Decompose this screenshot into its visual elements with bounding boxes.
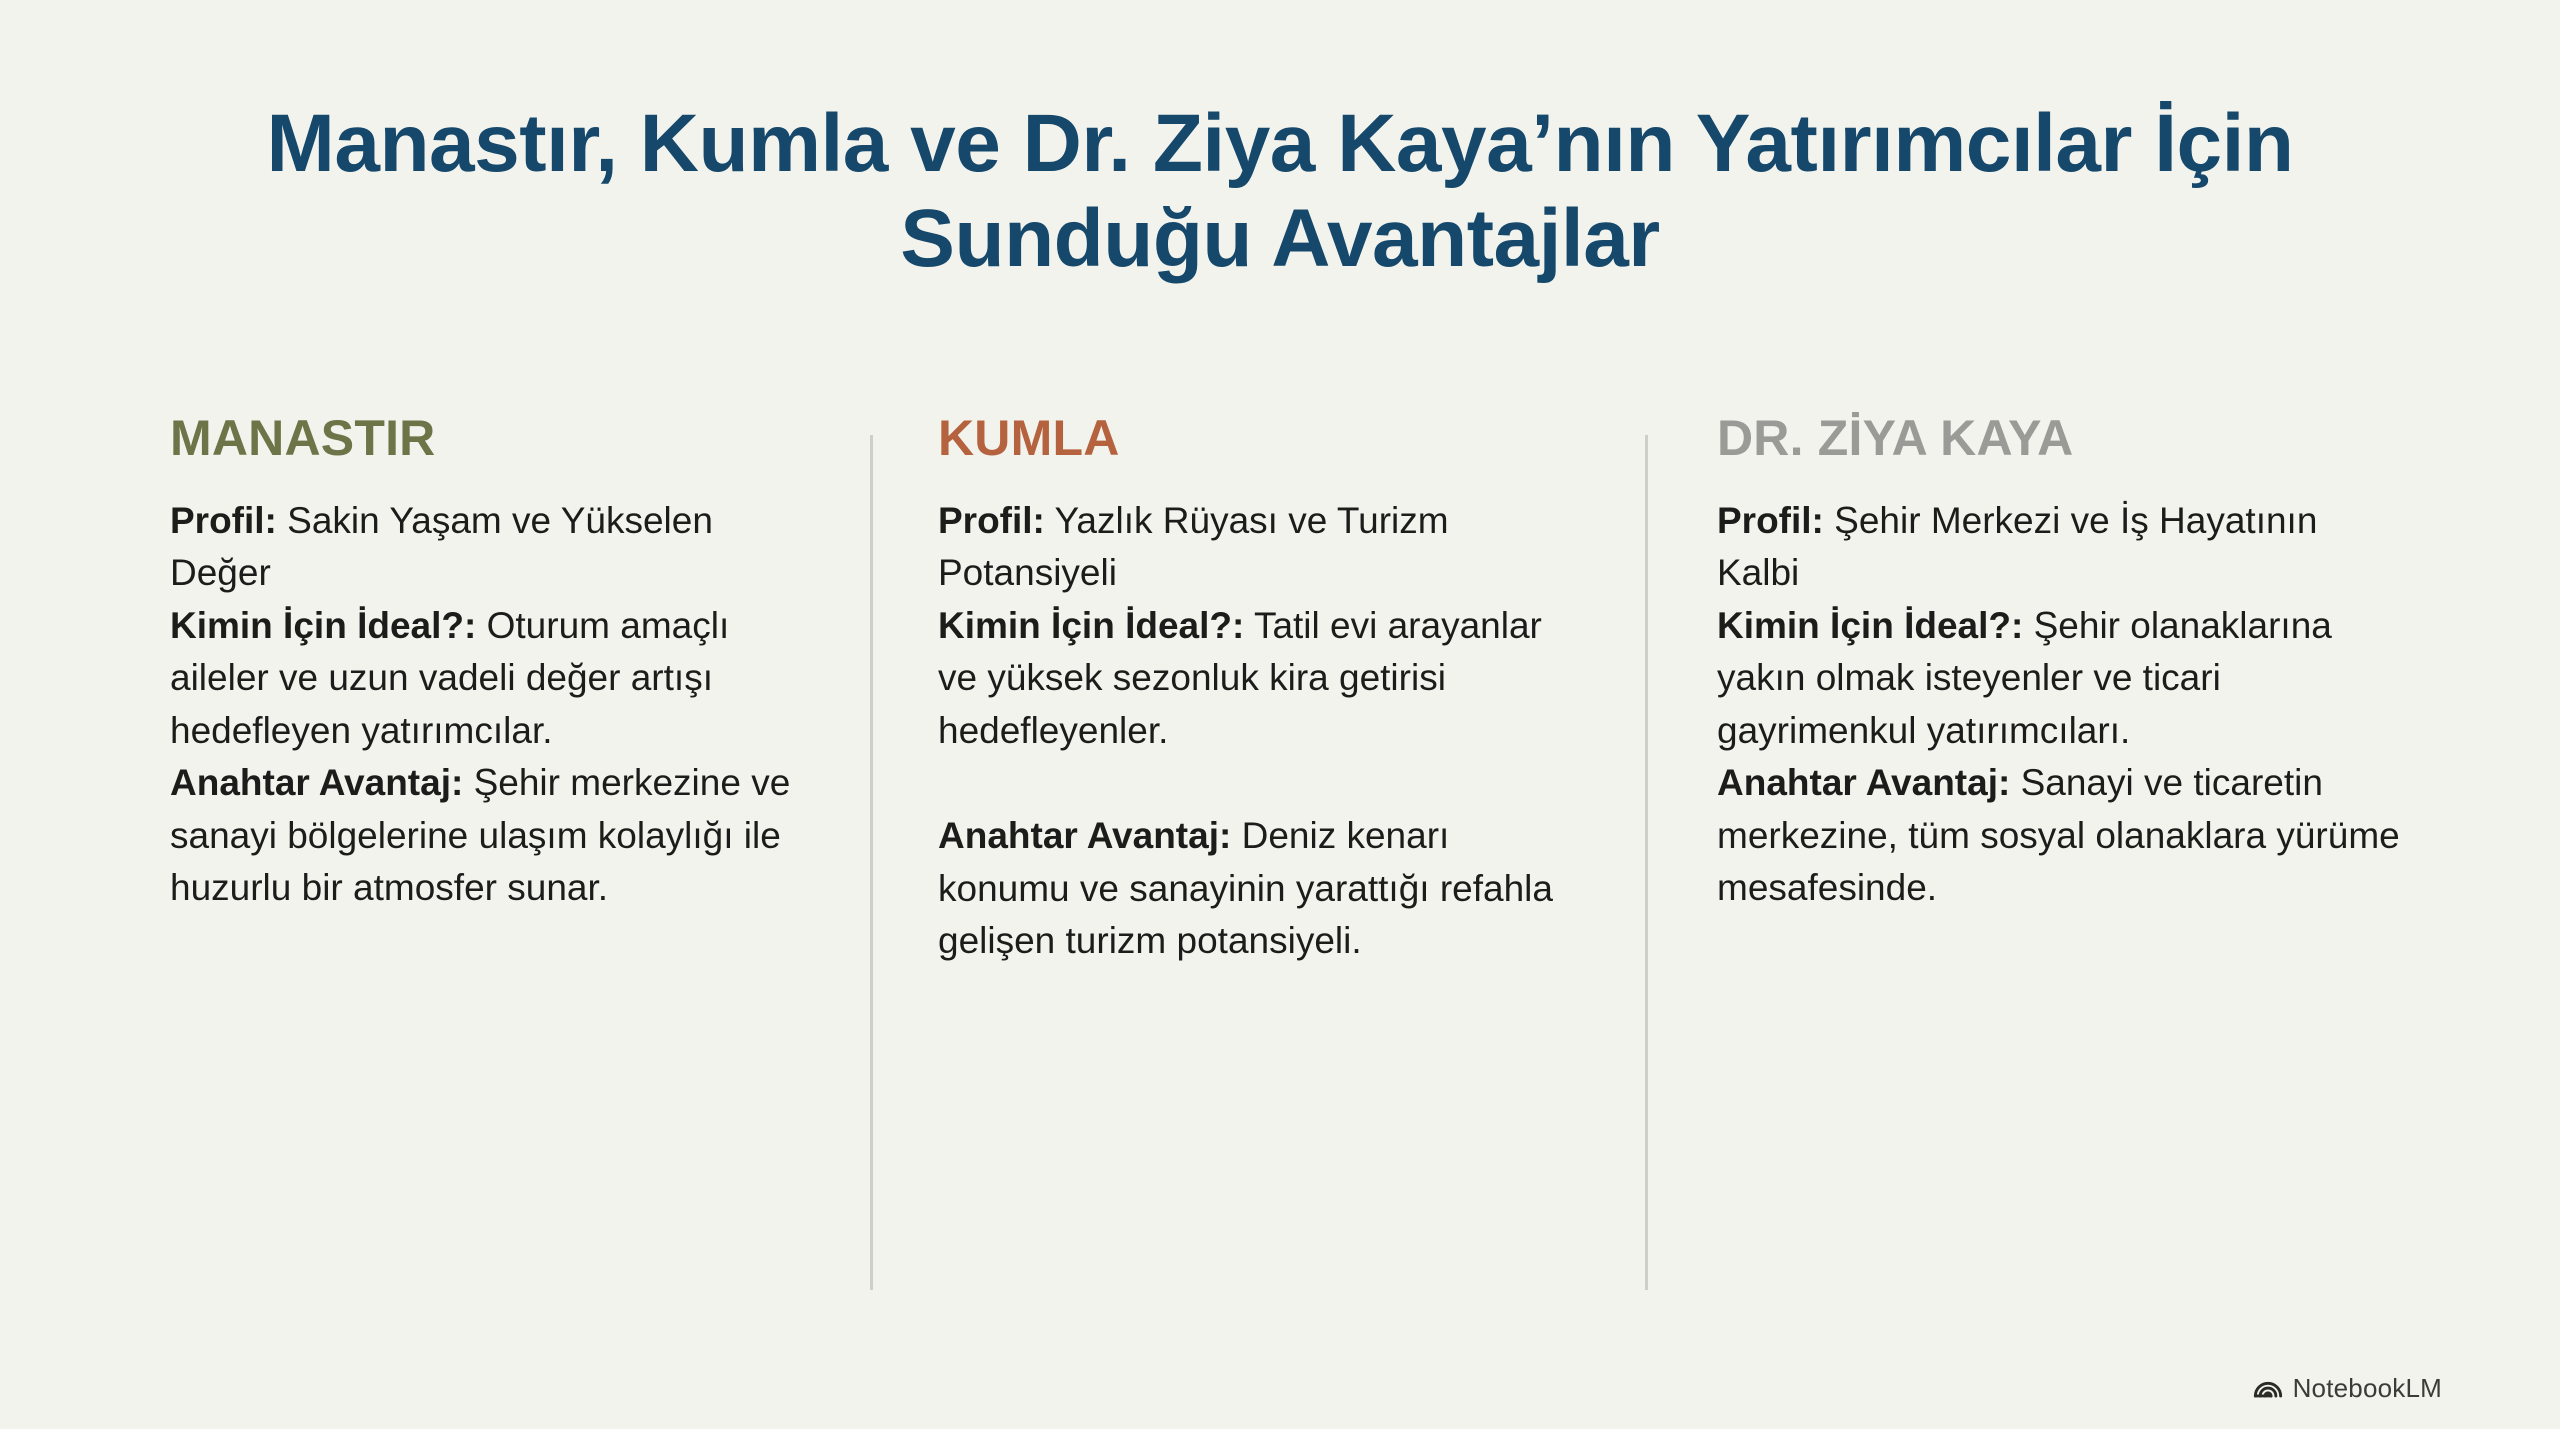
entry-label: Kimin İçin İdeal?: bbox=[170, 605, 476, 646]
column-heading-kumla: KUMLA bbox=[938, 412, 1585, 465]
entry-kimin-icin-ideal: Kimin İçin İdeal?: Tatil evi arayanlar v… bbox=[938, 600, 1585, 758]
entry-anahtar-avantaj: Anahtar Avantaj: Deniz kenarı konumu ve … bbox=[938, 810, 1585, 968]
column-divider-1 bbox=[870, 435, 873, 1290]
slide-canvas: Manastır, Kumla ve Dr. Ziya Kaya’nın Yat… bbox=[0, 0, 2560, 1429]
column-body-dr-ziya-kaya: Profil: Şehir Merkezi ve İş Hayatının Ka… bbox=[1717, 495, 2405, 915]
notebooklm-wordmark: NotebookLM bbox=[2293, 1375, 2442, 1401]
entry-label: Profil: bbox=[1717, 500, 1824, 541]
entry-label: Profil: bbox=[170, 500, 277, 541]
entry-profil: Profil: Şehir Merkezi ve İş Hayatının Ka… bbox=[1717, 495, 2405, 600]
entry-label: Anahtar Avantaj: bbox=[938, 815, 1231, 856]
entry-anahtar-avantaj: Anahtar Avantaj: Sanayi ve ticaretin mer… bbox=[1717, 757, 2405, 915]
entry-label: Kimin İçin İdeal?: bbox=[1717, 605, 2023, 646]
entry-profil: Profil: Sakin Yaşam ve Yükselen Değer bbox=[170, 495, 810, 600]
entry-profil: Profil: Yazlık Rüyası ve Turizm Potansiy… bbox=[938, 495, 1585, 600]
column-divider-2 bbox=[1645, 435, 1648, 1290]
entry-label: Anahtar Avantaj: bbox=[1717, 762, 2010, 803]
comparison-columns: MANASTIR Profil: Sakin Yaşam ve Yükselen… bbox=[170, 412, 2430, 968]
title-block: Manastır, Kumla ve Dr. Ziya Kaya’nın Yat… bbox=[0, 96, 2560, 286]
entry-label: Profil: bbox=[938, 500, 1045, 541]
column-body-kumla: Profil: Yazlık Rüyası ve Turizm Potansiy… bbox=[938, 495, 1585, 968]
column-body-manastir: Profil: Sakin Yaşam ve Yükselen Değer Ki… bbox=[170, 495, 810, 915]
column-manastir: MANASTIR Profil: Sakin Yaşam ve Yükselen… bbox=[170, 412, 870, 968]
paragraph-spacer bbox=[938, 757, 1585, 810]
column-heading-manastir: MANASTIR bbox=[170, 412, 810, 465]
column-kumla: KUMLA Profil: Yazlık Rüyası ve Turizm Po… bbox=[870, 412, 1645, 968]
entry-label: Anahtar Avantaj: bbox=[170, 762, 463, 803]
entry-anahtar-avantaj: Anahtar Avantaj: Şehir merkezine ve sana… bbox=[170, 757, 810, 915]
notebooklm-brand: NotebookLM bbox=[2253, 1373, 2442, 1403]
page-title: Manastır, Kumla ve Dr. Ziya Kaya’nın Yat… bbox=[170, 96, 2390, 286]
notebooklm-spiral-icon bbox=[2253, 1373, 2283, 1403]
entry-kimin-icin-ideal: Kimin İçin İdeal?: Şehir olanaklarına ya… bbox=[1717, 600, 2405, 758]
entry-kimin-icin-ideal: Kimin İçin İdeal?: Oturum amaçlı aileler… bbox=[170, 600, 810, 758]
entry-label: Kimin İçin İdeal?: bbox=[938, 605, 1244, 646]
column-heading-dr-ziya-kaya: DR. ZİYA KAYA bbox=[1717, 412, 2405, 465]
column-dr-ziya-kaya: DR. ZİYA KAYA Profil: Şehir Merkezi ve İ… bbox=[1645, 412, 2405, 968]
